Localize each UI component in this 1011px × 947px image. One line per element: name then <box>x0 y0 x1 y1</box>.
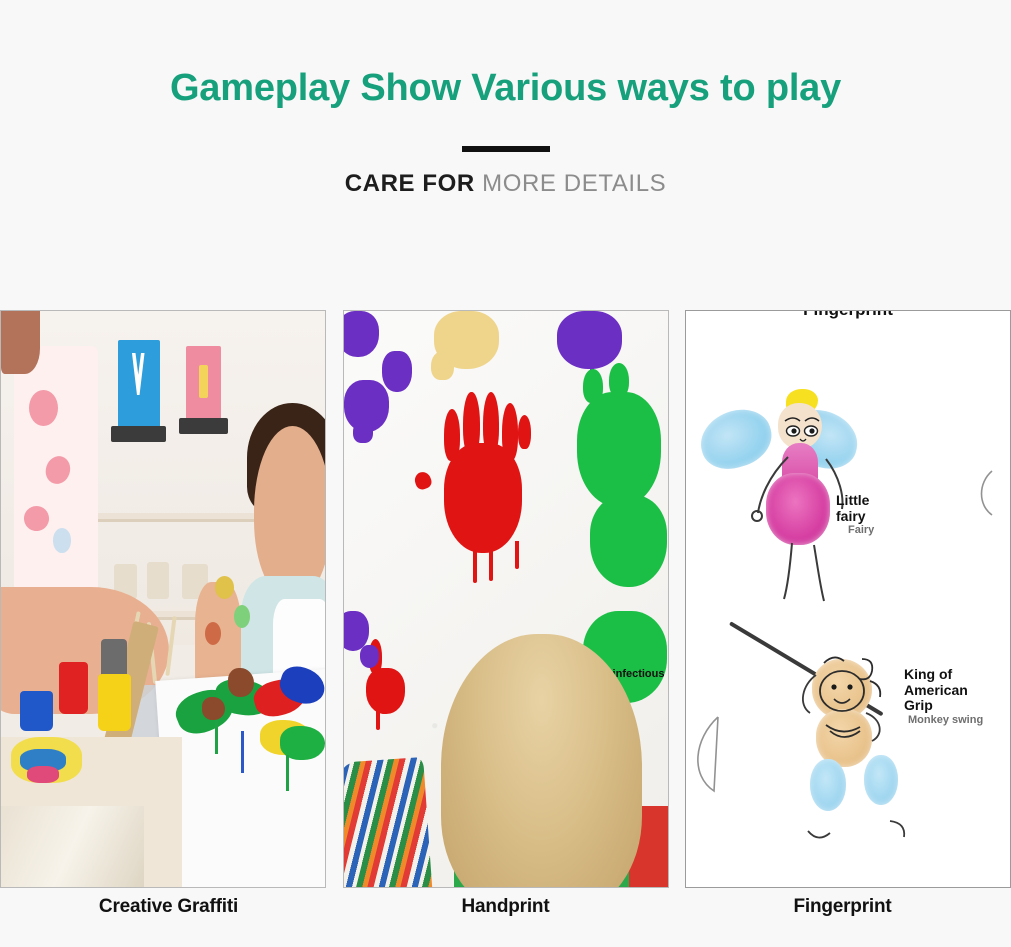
painted-apron <box>14 346 98 622</box>
creative-graffiti-image <box>1 311 325 887</box>
paint-pot-yellow <box>98 674 130 732</box>
monkey-feet-curls <box>794 789 924 859</box>
handprint-purple-topright <box>557 311 622 369</box>
easel-right <box>179 418 228 434</box>
boy-face <box>254 426 325 599</box>
subtitle-strong-text: CARE FOR <box>345 170 475 197</box>
fairy-label-line2: fairy <box>836 509 874 525</box>
easel-left <box>111 426 166 442</box>
page-title: Gameplay Show Various ways to play <box>0 68 1011 110</box>
wall-art-blue <box>118 340 160 432</box>
paint-pot-blue <box>20 691 52 731</box>
plastic-sheet <box>1 806 144 887</box>
caption-row: Creative Graffiti Handprint Fingerprint <box>0 896 1011 918</box>
fairy-label-line1: Little <box>836 493 874 509</box>
page-header: Gameplay Show Various ways to play CARE … <box>0 0 1011 198</box>
title-divider-rule <box>462 146 550 152</box>
handprint-red-lower <box>366 668 405 714</box>
child-striped-sleeve <box>344 757 433 887</box>
caption-creative-graffiti: Creative Graffiti <box>0 896 337 918</box>
paint-pot-red <box>59 662 88 714</box>
handprint-green-right <box>577 392 661 507</box>
fingerprint-sheet: Fingerprint <box>686 311 1010 887</box>
fairy-label: Little fairy Fairy <box>836 493 874 537</box>
sheet-title-text: Fingerprint <box>795 311 901 319</box>
panel-creative-graffiti[interactable] <box>0 310 326 888</box>
monkey-label: King of American Grip Monkey swing <box>904 667 983 726</box>
edge-doodle-right <box>974 461 1010 581</box>
page-subtitle: CARE FOR MORE DETAILS <box>0 170 1011 198</box>
sheet-title: Fingerprint <box>686 311 1010 320</box>
fairy-label-sub: Fairy <box>848 524 874 536</box>
shelf-cup-2 <box>147 562 170 599</box>
monkey-label-sub: Monkey swing <box>908 714 983 726</box>
wall-art-pink <box>186 346 222 421</box>
subtitle-light-text: MORE DETAILS <box>482 170 666 197</box>
panel-handprint[interactable]: Be infectious <box>343 310 669 888</box>
panel-row: Be infectious Fingerprint <box>0 310 1011 888</box>
caption-handprint: Handprint <box>337 896 674 918</box>
panel-fingerprint[interactable]: Fingerprint <box>685 310 1011 888</box>
child-left-head <box>1 311 40 374</box>
monkey-label-line3: Grip <box>904 698 983 714</box>
caption-fingerprint: Fingerprint <box>674 896 1011 918</box>
edge-doodle-left <box>686 711 744 821</box>
child-blonde-hair <box>441 634 642 887</box>
handprint-image: Be infectious <box>344 311 668 887</box>
monkey-label-line1: King of <box>904 667 983 683</box>
monkey-label-line2: American <box>904 683 983 699</box>
